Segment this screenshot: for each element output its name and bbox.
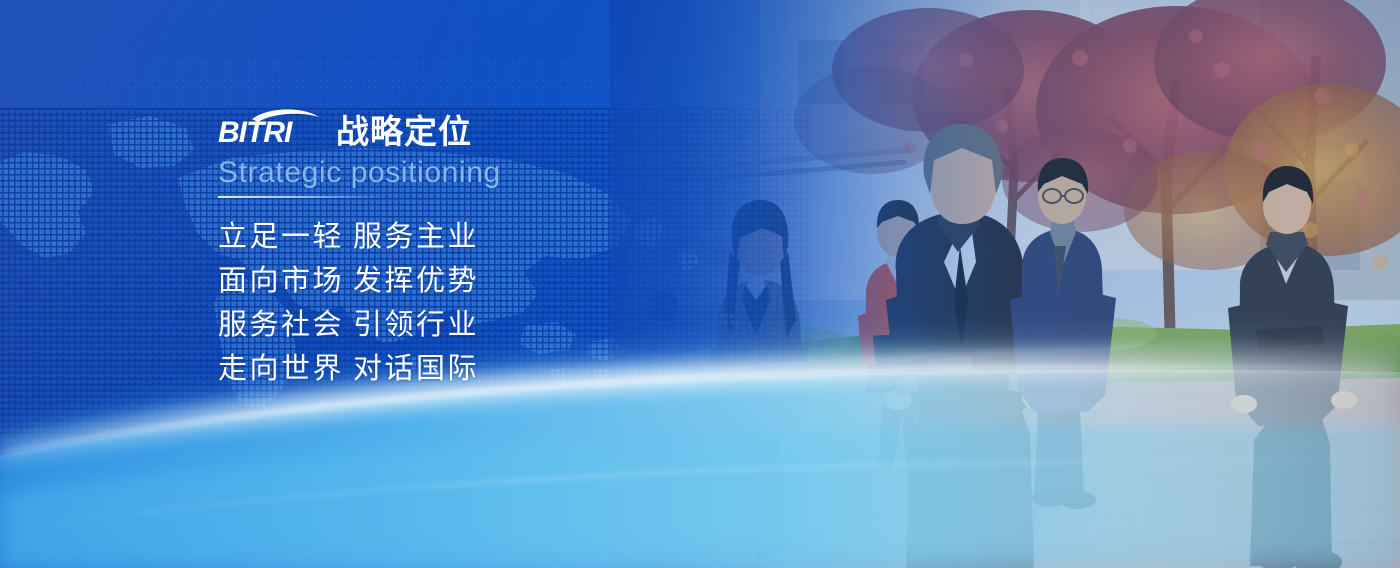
bitri-logo: BITRI: [218, 106, 322, 150]
slogan-right: 服务主业: [353, 221, 479, 252]
slogan-left: 走向世界: [218, 353, 353, 384]
accent-divider: [218, 196, 383, 198]
slogan-list: 立足一轻 服务主业 面向市场 发挥优势 服务社会 引领行业 走向世界 对话国际: [218, 221, 738, 385]
slogan-row: 走向世界 对话国际: [218, 353, 738, 384]
slogan-row: 服务社会 引领行业: [218, 309, 738, 340]
slogan-row: 立足一轻 服务主业: [218, 221, 738, 252]
slogan-right: 发挥优势: [353, 265, 479, 296]
banner-content: BITRI 战略定位 Strategic positioning 立足一轻 服务…: [218, 104, 738, 385]
slogan-right: 引领行业: [353, 309, 479, 340]
slogan-left: 面向市场: [218, 265, 353, 296]
page-subtitle: Strategic positioning: [218, 157, 738, 189]
title-row: BITRI 战略定位: [218, 104, 738, 150]
strategic-positioning-banner: BITRI 战略定位 Strategic positioning 立足一轻 服务…: [0, 0, 1400, 568]
slogan-row: 面向市场 发挥优势: [218, 265, 738, 296]
slogan-left: 服务社会: [218, 309, 353, 340]
svg-text:BITRI: BITRI: [218, 116, 293, 149]
slogan-left: 立足一轻: [218, 221, 353, 252]
page-title: 战略定位: [336, 115, 472, 150]
slogan-right: 对话国际: [353, 353, 479, 384]
